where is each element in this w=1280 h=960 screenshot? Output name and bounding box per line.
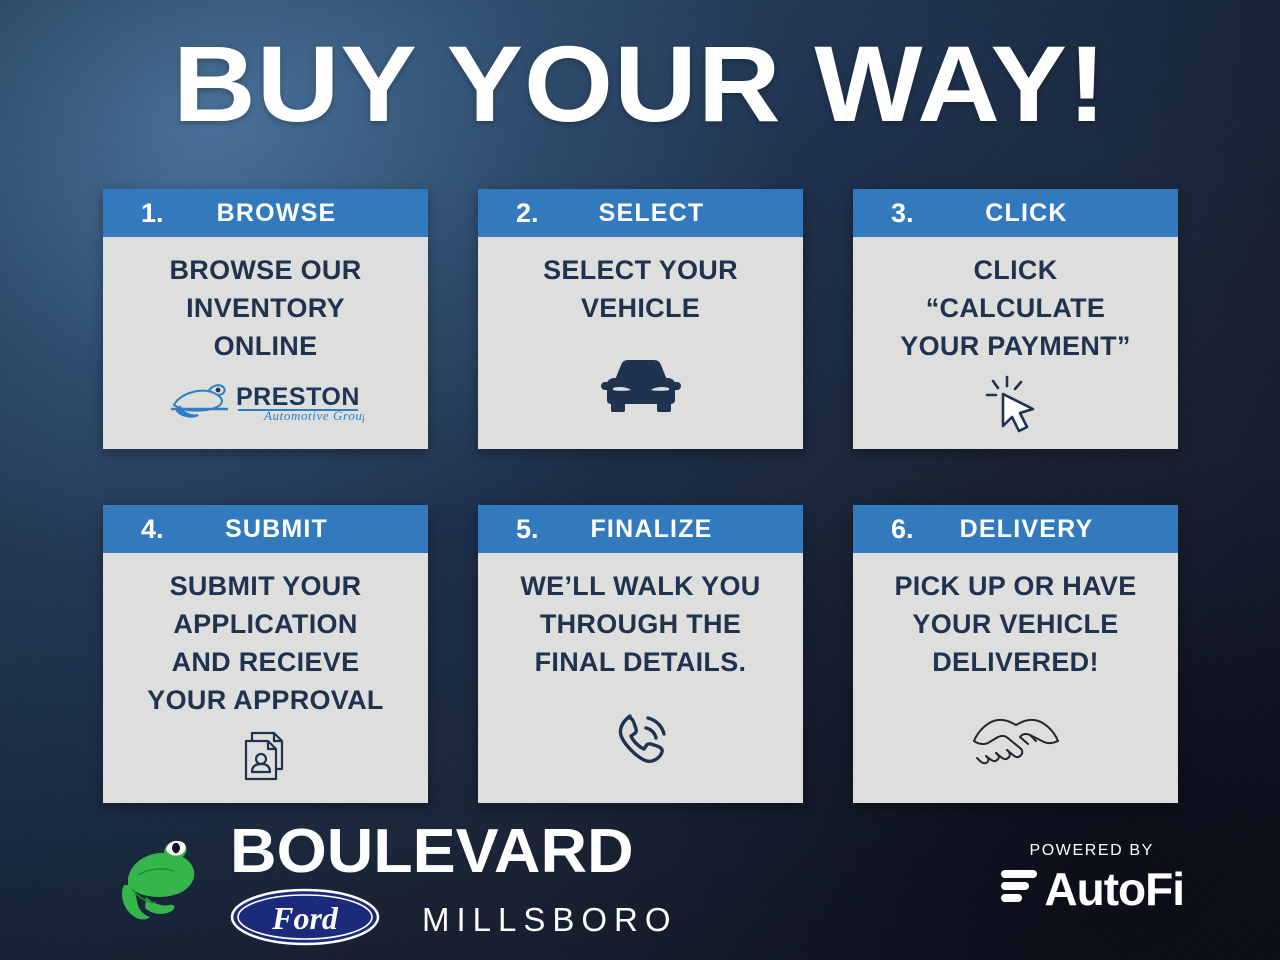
step-card-body: PICK UP OR HAVE YOUR VEHICLE DELIVERED! — [853, 553, 1178, 803]
step-card-body: CLICK “CALCULATE YOUR PAYMENT” — [853, 237, 1178, 449]
ford-oval-logo: Ford — [230, 888, 380, 951]
step-card-header: 4. SUBMIT — [103, 505, 428, 553]
step-card-header: 3. CLICK — [853, 189, 1178, 237]
step-number: 1. — [117, 200, 169, 227]
poster-canvas: BUY YOUR WAY! 1. BROWSE BROWSE OUR INVEN… — [0, 0, 1280, 960]
step-title: CLICK — [919, 201, 1164, 226]
step-card-body: WE’LL WALK YOU THROUGH THE FINAL DETAILS… — [478, 553, 803, 803]
ford-wordmark: Ford — [271, 900, 339, 936]
step-card-header: 2. SELECT — [478, 189, 803, 237]
handshake-icon — [968, 691, 1064, 787]
step-description: SUBMIT YOUR APPLICATION AND RECIEVE YOUR… — [147, 567, 383, 719]
step-number: 5. — [492, 516, 544, 543]
step-description: PICK UP OR HAVE YOUR VEHICLE DELIVERED! — [894, 567, 1136, 681]
step-card-body: SELECT YOUR VEHICLE — [478, 237, 803, 449]
step-card-finalize[interactable]: 5. FINALIZE WE’LL WALK YOU THROUGH THE F… — [478, 505, 803, 803]
cursor-click-icon — [983, 375, 1049, 433]
step-description: BROWSE OUR INVENTORY ONLINE — [170, 251, 362, 365]
step-number: 2. — [492, 200, 544, 227]
step-number: 3. — [867, 200, 919, 227]
car-front-icon — [595, 337, 687, 433]
step-card-browse[interactable]: 1. BROWSE BROWSE OUR INVENTORY ONLINE — [103, 189, 428, 449]
powered-by-label: POWERED BY — [1029, 842, 1153, 860]
autofi-wordmark: AutoFi — [1044, 866, 1184, 912]
page-title: BUY YOUR WAY! — [0, 28, 1280, 140]
step-title: BROWSE — [169, 201, 414, 226]
step-title: SELECT — [544, 201, 789, 226]
step-description: CLICK “CALCULATE YOUR PAYMENT” — [900, 251, 1130, 365]
step-card-click[interactable]: 3. CLICK CLICK “CALCULATE YOUR PAYMENT” — [853, 189, 1178, 449]
svg-text:Automotive Group: Automotive Group — [263, 408, 364, 423]
step-card-body: SUBMIT YOUR APPLICATION AND RECIEVE YOUR… — [103, 553, 428, 803]
dealer-name: BOULEVARD — [230, 822, 634, 882]
step-title: DELIVERY — [919, 517, 1164, 542]
step-description: WE’LL WALK YOU THROUGH THE FINAL DETAILS… — [520, 567, 760, 681]
step-number: 6. — [867, 516, 919, 543]
step-description: SELECT YOUR VEHICLE — [543, 251, 738, 327]
steps-grid: 1. BROWSE BROWSE OUR INVENTORY ONLINE — [103, 189, 1183, 803]
phone-ringing-icon — [608, 691, 674, 787]
autofi-logo[interactable]: POWERED BY AutoFi — [999, 842, 1184, 912]
step-card-delivery[interactable]: 6. DELIVERY PICK UP OR HAVE YOUR VEHICLE… — [853, 505, 1178, 803]
step-card-header: 1. BROWSE — [103, 189, 428, 237]
dealer-logo[interactable]: BOULEVARD Ford MILLSBORO — [112, 822, 678, 951]
step-title: SUBMIT — [169, 517, 414, 542]
dealer-location: MILLSBORO — [422, 903, 678, 936]
step-card-select[interactable]: 2. SELECT SELECT YOUR VEHICLE — [478, 189, 803, 449]
step-title: FINALIZE — [544, 517, 789, 542]
step-card-header: 6. DELIVERY — [853, 505, 1178, 553]
frog-icon — [112, 835, 216, 938]
autofi-bars-icon — [999, 865, 1039, 912]
step-card-submit[interactable]: 4. SUBMIT SUBMIT YOUR APPLICATION AND RE… — [103, 505, 428, 803]
step-number: 4. — [117, 516, 169, 543]
preston-logo: PRESTON Automotive Group — [168, 379, 364, 423]
footer: BOULEVARD Ford MILLSBORO POWERED BY — [0, 810, 1280, 960]
step-card-body: BROWSE OUR INVENTORY ONLINE PRESTON — [103, 237, 428, 449]
step-card-header: 5. FINALIZE — [478, 505, 803, 553]
document-person-icon — [238, 729, 294, 787]
svg-text:PRESTON: PRESTON — [236, 383, 360, 411]
